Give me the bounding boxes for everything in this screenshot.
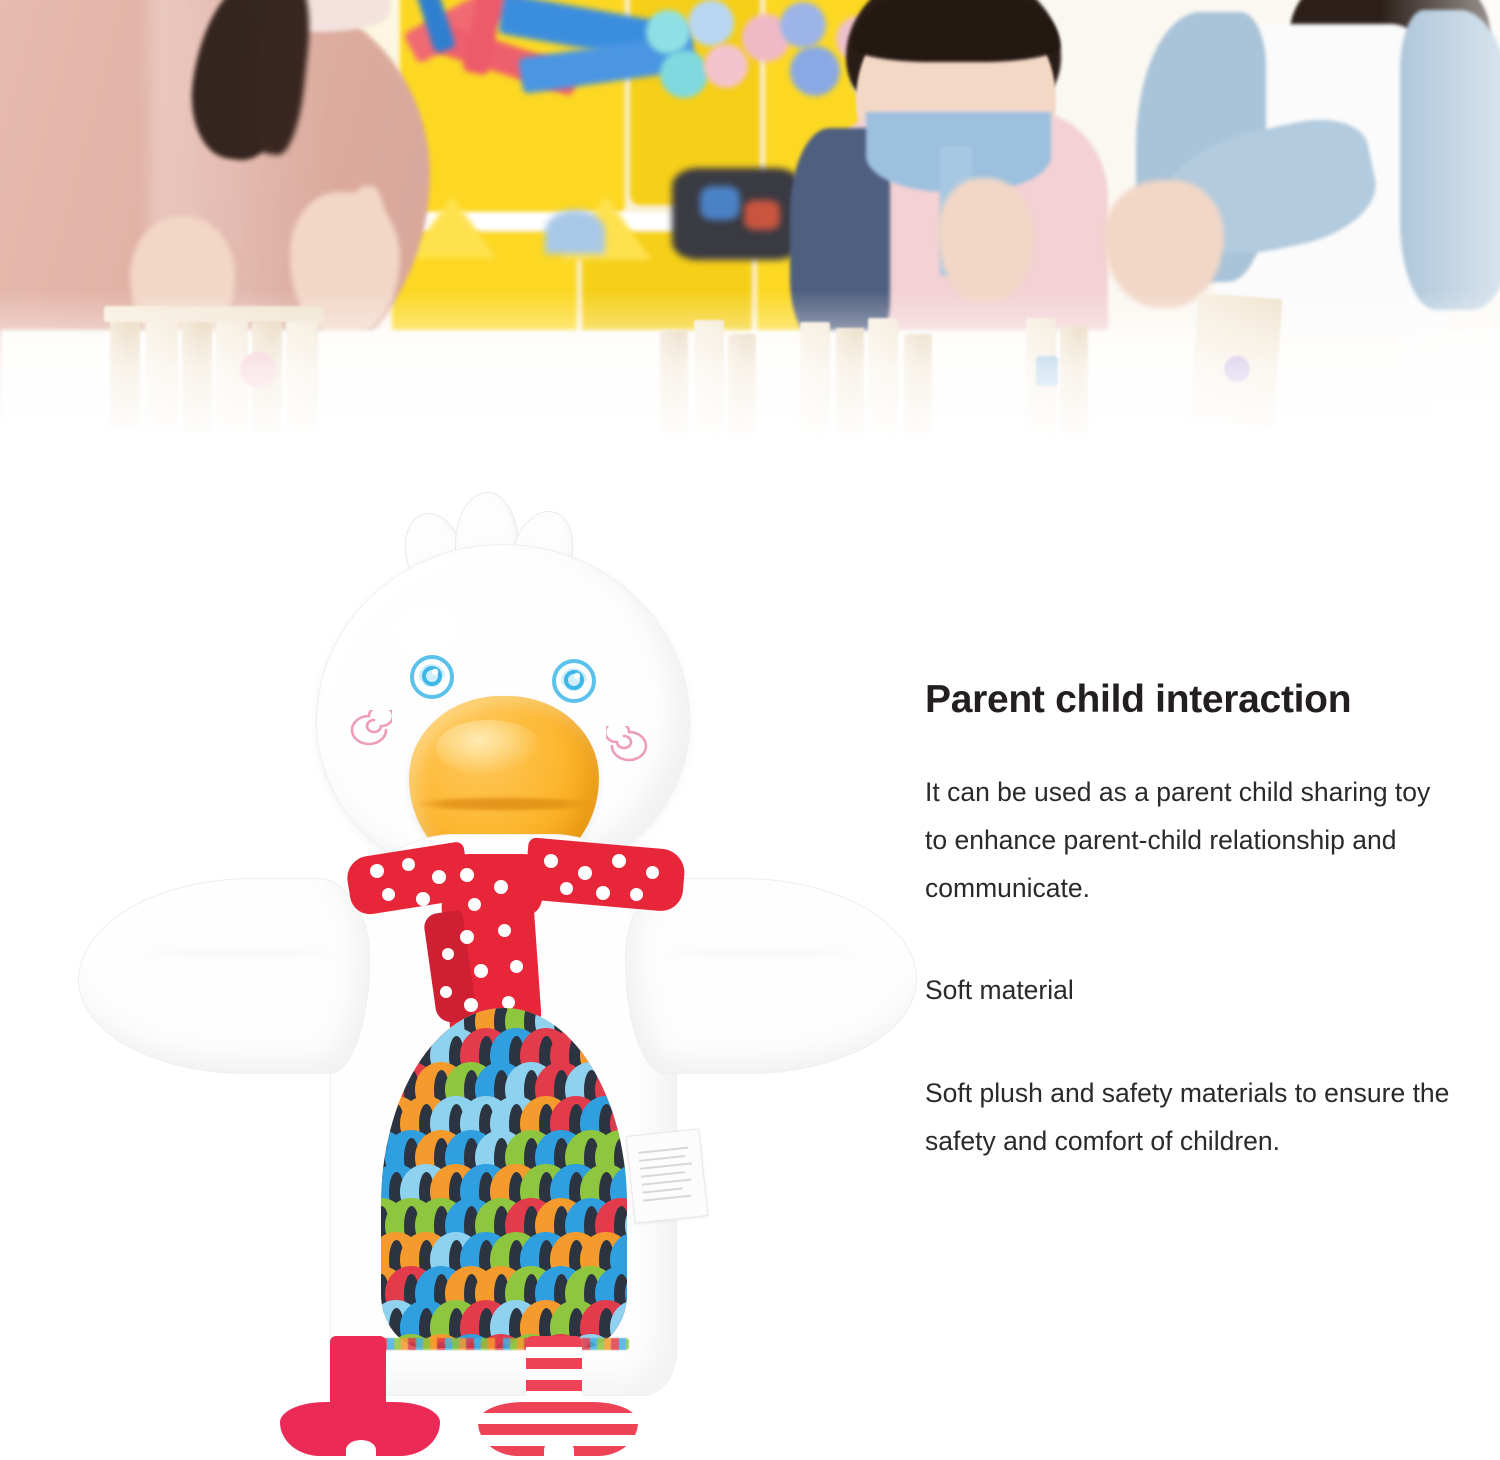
scarf-dot	[468, 898, 481, 911]
left-wing-crease	[150, 952, 330, 955]
product-feature-page: Parent child interaction It can be used …	[0, 0, 1500, 1456]
product-image-duck-puppet	[130, 482, 870, 1456]
child-two-hand	[1104, 180, 1224, 308]
tag-text-line	[639, 1155, 685, 1162]
care-label-tag	[626, 1128, 709, 1223]
scarf-dot	[370, 864, 384, 878]
scarf-dot	[510, 960, 523, 973]
right-foot-web-notch	[544, 1440, 574, 1460]
left-foot-web-notch	[346, 1440, 376, 1460]
duck-hand-puppet	[130, 482, 870, 1456]
cubby-toy	[700, 186, 740, 220]
plastic-ball	[646, 10, 690, 54]
adult-finger	[352, 186, 384, 258]
tag-text-line	[642, 1178, 692, 1185]
scarf-dot	[612, 854, 626, 868]
plastic-ball	[688, 0, 734, 46]
right-wing-crease	[670, 952, 850, 955]
scarf-dot	[560, 882, 573, 895]
hero-scene	[0, 0, 1500, 480]
scarf-dot	[630, 888, 643, 901]
feature-heading: Parent child interaction	[925, 678, 1455, 722]
tag-text-line	[643, 1187, 683, 1193]
plastic-ball	[790, 46, 840, 96]
child-one-hair-fringe	[852, 0, 1060, 62]
scarf-dot	[578, 866, 592, 880]
beak-mouth-line	[416, 798, 592, 810]
scarf-dot	[442, 948, 454, 960]
plastic-ball	[660, 50, 708, 98]
scarf-dot	[646, 866, 659, 879]
cubby-toy	[545, 210, 605, 254]
scarf-dot	[596, 886, 610, 900]
feature-paragraph-3: Soft plush and safety materials to ensur…	[925, 1069, 1455, 1165]
child-one-hand	[938, 178, 1034, 303]
patterned-belly-panel	[381, 1008, 627, 1348]
tag-text-line	[638, 1147, 688, 1154]
left-wing	[78, 878, 370, 1074]
scarf-dot	[460, 868, 474, 882]
scarf-dot	[544, 854, 558, 868]
belly-pattern	[381, 1008, 627, 1348]
scarf-dot	[432, 870, 446, 884]
tag-text-line	[641, 1171, 685, 1178]
right-cheek-blush	[606, 726, 652, 766]
feature-paragraph-1: It can be used as a parent child sharing…	[925, 768, 1455, 913]
left-cheek-blush	[346, 710, 392, 750]
scarf-dot	[498, 924, 511, 937]
cubby-toy	[744, 200, 780, 230]
tag-text-line	[640, 1162, 692, 1169]
feature-paragraph-2: Soft material	[925, 966, 1455, 1014]
tag-text-line	[643, 1195, 691, 1202]
plastic-ball	[704, 44, 748, 88]
scarf-dot	[460, 930, 474, 944]
plastic-ball	[780, 2, 826, 48]
beak-highlight	[436, 720, 542, 776]
left-eye	[409, 654, 455, 700]
belly-hem-trim	[379, 1338, 629, 1350]
hero-lifestyle-photo	[0, 0, 1500, 480]
feature-copy-column: Parent child interaction It can be used …	[925, 678, 1455, 1165]
right-eye	[551, 658, 597, 704]
scarf-dot	[382, 888, 395, 901]
scarf-dot	[474, 964, 488, 978]
scarf-dot	[440, 986, 452, 998]
hero-bottom-fade	[0, 290, 1500, 480]
scarf-dot	[494, 880, 508, 894]
scarf-dot	[402, 858, 415, 871]
scarf-dot	[416, 892, 430, 906]
